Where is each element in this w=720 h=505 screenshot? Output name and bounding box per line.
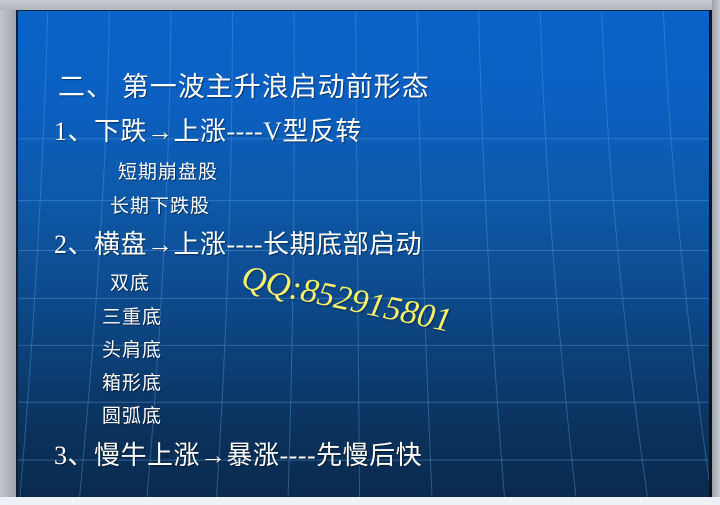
bullet-item-1: 1、下跌→上涨----V型反转 [54, 111, 362, 148]
bullet-item-2: 2、横盘→上涨----长期底部启动 [54, 224, 422, 261]
bullet-item-2-d: 箱形底 [102, 368, 162, 395]
slide-canvas: 二、 第一波主升浪启动前形态 1、下跌→上涨----V型反转 短期崩盘股 长期下… [16, 10, 712, 497]
slide-window: 二、 第一波主升浪启动前形态 1、下跌→上涨----V型反转 短期崩盘股 长期下… [0, 0, 720, 505]
window-right-margin [712, 0, 720, 505]
window-top-margin [0, 0, 720, 10]
bullet-item-1-a: 短期崩盘股 [118, 157, 218, 184]
window-left-margin [0, 0, 16, 505]
slide-content: 二、 第一波主升浪启动前形态 1、下跌→上涨----V型反转 短期崩盘股 长期下… [18, 11, 709, 497]
slide-title: 二、 第一波主升浪启动前形态 [58, 65, 430, 104]
bullet-item-3: 3、慢牛上涨→暴涨----先慢后快 [54, 435, 422, 472]
qq-watermark: QQ:852915801 [238, 259, 455, 341]
bullet-item-1-b: 长期下跌股 [110, 191, 210, 218]
bullet-item-2-a: 双底 [110, 268, 150, 295]
bullet-item-2-b: 三重底 [102, 302, 162, 329]
bullet-item-2-c: 头肩底 [102, 335, 162, 362]
window-bottom-margin [0, 497, 720, 505]
bullet-item-2-e: 圆弧底 [102, 401, 162, 428]
